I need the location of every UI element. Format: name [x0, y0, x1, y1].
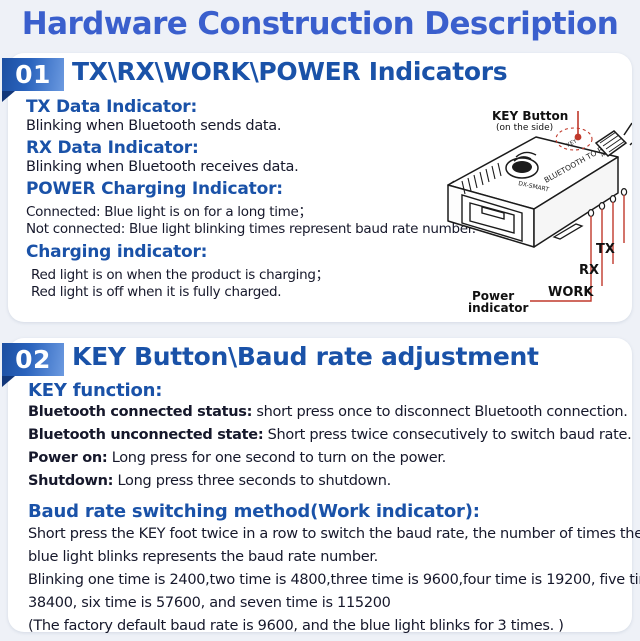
- section-badge-01: 01: [2, 58, 64, 91]
- rx-indicator-text: Blinking when Bluetooth receives data.: [26, 159, 436, 175]
- charging-indicator-head: Charging indicator:: [26, 242, 436, 262]
- tx-indicator-text: Blinking when Bluetooth sends data.: [26, 118, 436, 134]
- callout-key-button-label: KEY Button: [492, 109, 568, 123]
- section-card-indicators: 01 TX\RX\WORK\POWER Indicators TX Data I…: [8, 53, 632, 322]
- key-item-unconnected-label: Bluetooth unconnected state:: [28, 427, 263, 443]
- baud-switching-line-5: (The factory default baud rate is 9600, …: [28, 618, 628, 634]
- key-item-connected: Bluetooth connected status: short press …: [28, 404, 628, 420]
- section-card-key-button: 02 KEY Button\Baud rate adjustment KEY f…: [8, 338, 632, 632]
- baud-switching-line-1: Short press the KEY foot twice in a row …: [28, 526, 628, 542]
- key-item-unconnected: Bluetooth unconnected state: Short press…: [28, 427, 628, 443]
- callout-rx-label: RX: [579, 263, 599, 278]
- key-item-power-on: Power on: Long press for one second to t…: [28, 450, 628, 466]
- key-item-unconnected-text: Short press twice consecutively to switc…: [263, 427, 631, 443]
- key-item-shutdown: Shutdown: Long press three seconds to sh…: [28, 473, 628, 489]
- baud-switching-line-2: blue light blinks represents the baud ra…: [28, 549, 628, 565]
- key-item-shutdown-label: Shutdown:: [28, 473, 113, 489]
- section-number-01: 01: [2, 58, 64, 91]
- badge-fold-icon: [2, 91, 15, 102]
- key-function-text-block: KEY function: Bluetooth connected status…: [28, 380, 628, 641]
- baud-switching-line-4: 38400, six time is 57600, and seven time…: [28, 595, 628, 611]
- charging-indicator-line-2: Red light is off when it is fully charge…: [26, 284, 436, 300]
- device-illustration: DX-SMART BLUETOOTH TO RS232 KEY ANT: [418, 61, 632, 313]
- callout-key-button-sublabel: (on the side): [496, 123, 553, 133]
- key-item-power-on-label: Power on:: [28, 450, 107, 466]
- baud-switching-line-3: Blinking one time is 2400,two time is 48…: [28, 572, 628, 588]
- device-drawing-svg: DX-SMART BLUETOOTH TO RS232 KEY ANT: [418, 61, 632, 313]
- key-item-shutdown-text: Long press three seconds to shutdown.: [113, 473, 391, 489]
- callout-work-label: WORK: [548, 285, 593, 300]
- callout-tx-label: TX: [596, 242, 615, 257]
- key-function-head: KEY function:: [28, 380, 628, 401]
- key-item-connected-label: Bluetooth connected status:: [28, 404, 252, 420]
- section-heading-02: KEY Button\Baud rate adjustment: [72, 342, 539, 371]
- section-badge-02: 02: [2, 343, 64, 376]
- page-title: Hardware Construction Description: [0, 6, 640, 42]
- power-indicator-head: POWER Charging Indicator:: [26, 179, 436, 199]
- indicator-text-block: TX Data Indicator: Blinking when Bluetoo…: [26, 97, 436, 301]
- power-indicator-line-1: Connected: Blue light is on for a long t…: [26, 200, 436, 220]
- tx-indicator-head: TX Data Indicator:: [26, 97, 436, 117]
- key-item-connected-text: short press once to disconnect Bluetooth…: [252, 404, 628, 420]
- callout-power-sublabel: indicator: [468, 301, 528, 315]
- section-number-02: 02: [2, 343, 64, 376]
- power-indicator-line-2: Not connected: Blue light blinking times…: [26, 221, 436, 237]
- baud-switching-head: Baud rate switching method(Work indicato…: [28, 501, 628, 522]
- charging-indicator-line-1: Red light is on when the product is char…: [26, 263, 436, 283]
- key-item-power-on-text: Long press for one second to turn on the…: [107, 450, 446, 466]
- badge-fold-icon: [2, 376, 15, 387]
- rx-indicator-head: RX Data Indicator:: [26, 138, 436, 158]
